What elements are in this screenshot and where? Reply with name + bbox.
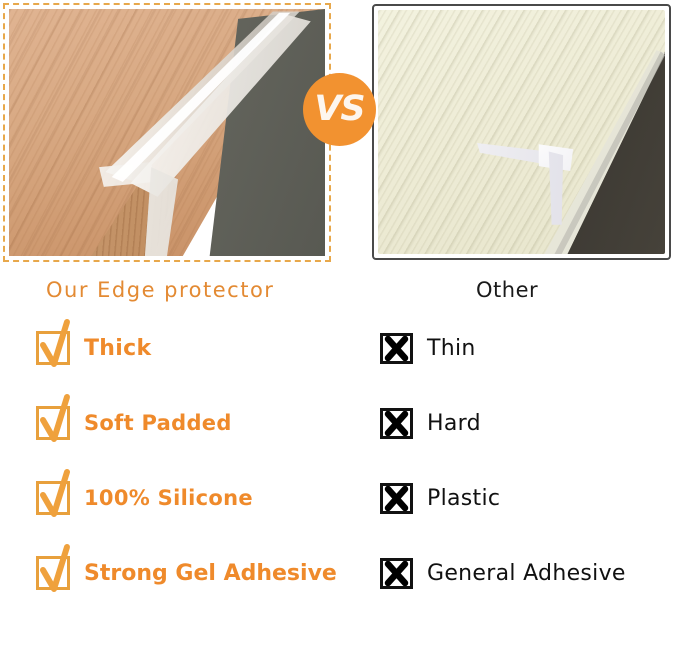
table-row: 100% Silicone Plastic <box>0 470 679 545</box>
cell-other: Plastic <box>380 470 500 526</box>
label-other: Thin <box>427 336 476 361</box>
comparison-photos: VS <box>0 0 679 268</box>
vs-badge: VS <box>303 73 376 146</box>
photo-other-edge-protector-image <box>378 10 665 254</box>
comparison-table: Our Edge protector Other Thick Thin <box>0 268 679 649</box>
comparison-rows: Thick Thin Soft Padded <box>0 320 679 620</box>
check-mark-icon <box>36 331 70 365</box>
cross-mark-icon <box>380 483 413 514</box>
label-ours: Strong Gel Adhesive <box>84 561 337 586</box>
cell-ours: Thick <box>36 320 151 376</box>
cell-ours: 100% Silicone <box>36 470 253 526</box>
photo-our-edge-protector-image <box>9 9 325 256</box>
photo-our-edge-protector <box>3 3 331 262</box>
table-row: Strong Gel Adhesive General Adhesive <box>0 545 679 620</box>
check-mark-icon <box>36 481 70 515</box>
cross-mark-icon <box>380 333 413 364</box>
cell-other: General Adhesive <box>380 545 626 601</box>
comparison-headings: Our Edge protector Other <box>0 268 679 320</box>
cell-ours: Soft Padded <box>36 395 232 451</box>
photo-other-edge-protector <box>372 4 671 260</box>
label-ours: Soft Padded <box>84 411 232 435</box>
check-mark-icon <box>36 556 70 590</box>
table-row: Thick Thin <box>0 320 679 395</box>
cross-mark-icon <box>380 408 413 439</box>
heading-other: Other <box>476 278 538 302</box>
label-other: Hard <box>427 411 481 436</box>
label-ours: 100% Silicone <box>84 486 253 510</box>
check-mark-icon <box>36 406 70 440</box>
cell-ours: Strong Gel Adhesive <box>36 545 337 601</box>
label-other: Plastic <box>427 486 500 511</box>
table-row: Soft Padded Hard <box>0 395 679 470</box>
vs-badge-label: VS <box>314 92 364 127</box>
cell-other: Thin <box>380 320 476 376</box>
cell-other: Hard <box>380 395 481 451</box>
label-ours: Thick <box>84 336 151 361</box>
cross-mark-icon <box>380 558 413 589</box>
label-other: General Adhesive <box>427 561 626 586</box>
heading-our-edge-protector: Our Edge protector <box>46 278 274 302</box>
